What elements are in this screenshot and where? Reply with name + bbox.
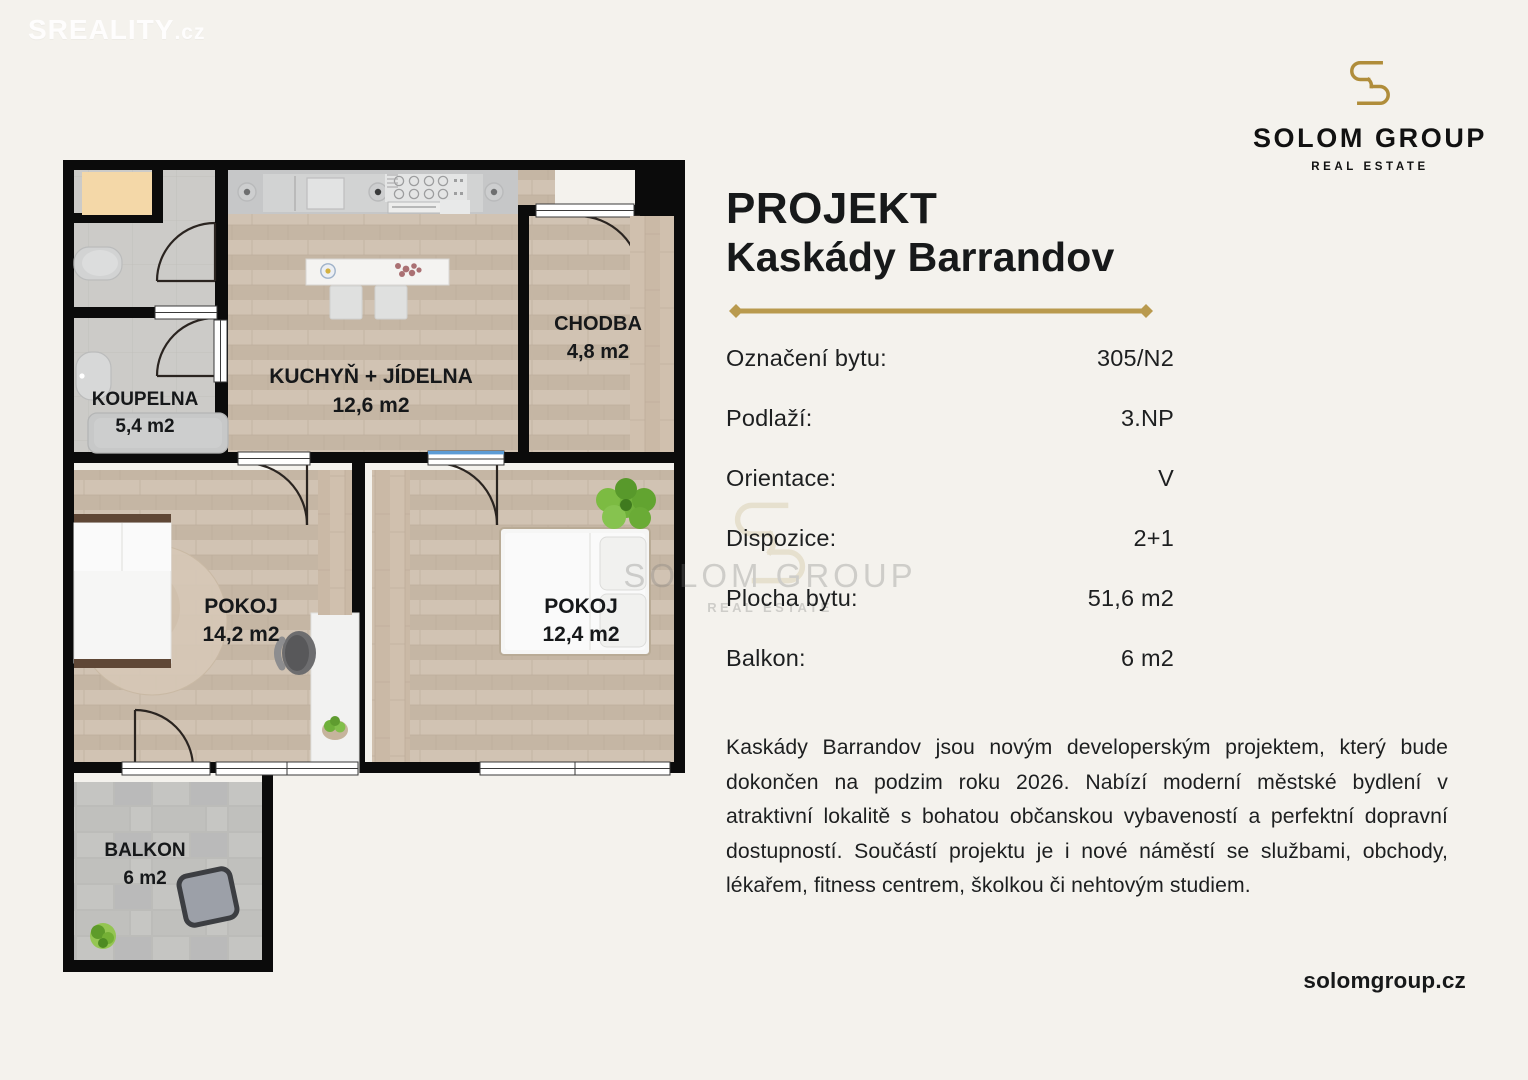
- floorplan-figure: KOUPELNA 5,4 m2 KUCHYŇ + JÍDELNA 12,6 m2…: [0, 0, 700, 1080]
- spec-label: Označení bytu:: [726, 345, 887, 372]
- spec-value: V: [1158, 465, 1174, 492]
- spec-value: 51,6 m2: [1088, 585, 1174, 612]
- page-title: PROJEKT: [726, 186, 1466, 232]
- spec-label: Balkon:: [726, 645, 806, 672]
- spec-table: Označení bytu: 305/N2 Podlaží: 3.NP Orie…: [726, 345, 1174, 705]
- balcony-plant: [90, 923, 116, 949]
- room-label-pokoj1: POKOJ: [204, 595, 278, 618]
- room-label-kuchyn: KUCHYŇ + JÍDELNA: [269, 364, 473, 388]
- spec-row: Plocha bytu: 51,6 m2: [726, 585, 1174, 645]
- room-label-koupelna: KOUPELNA: [92, 389, 199, 410]
- brand-subtitle: REAL ESTATE: [1240, 161, 1500, 173]
- brand-logo: SOLOM GROUP REAL ESTATE: [1240, 52, 1500, 173]
- spec-label: Dispozice:: [726, 525, 836, 552]
- spec-value: 305/N2: [1097, 345, 1174, 372]
- room-area-pokoj2: 12,4 m2: [542, 623, 619, 646]
- title-divider: [726, 303, 1156, 319]
- spec-value: 6 m2: [1121, 645, 1174, 672]
- room-area-chodba: 4,8 m2: [567, 341, 629, 363]
- spec-row: Podlaží: 3.NP: [726, 405, 1174, 465]
- floorplan-svg: KOUPELNA 5,4 m2 KUCHYŇ + JÍDELNA 12,6 m2…: [0, 0, 700, 1080]
- title-block: PROJEKT Kaskády Barrandov: [726, 186, 1466, 280]
- spec-label: Orientace:: [726, 465, 836, 492]
- balcony-chair: [177, 867, 238, 927]
- footer-website-url: solomgroup.cz: [1130, 968, 1466, 994]
- spec-label: Podlaží:: [726, 405, 813, 432]
- room-area-kuchyn: 12,6 m2: [332, 394, 409, 417]
- brand-name: SOLOM GROUP: [1240, 123, 1500, 154]
- sreality-watermark: SREALITY.cz: [28, 14, 205, 46]
- spec-value: 2+1: [1134, 525, 1174, 552]
- pokoj1-closet: [318, 470, 352, 615]
- room-label-chodba: CHODBA: [554, 313, 642, 335]
- room-label-balkon: BALKON: [104, 840, 185, 861]
- spec-row: Označení bytu: 305/N2: [726, 345, 1174, 405]
- spec-value: 3.NP: [1121, 405, 1174, 432]
- bed-double: [74, 514, 171, 668]
- wc-toilet: [74, 247, 122, 280]
- kitchen-counter: [228, 170, 518, 214]
- project-description: Kaskády Barrandov jsou novým developersk…: [726, 731, 1448, 904]
- spec-row: Orientace: V: [726, 465, 1174, 525]
- accent-block: [82, 172, 152, 215]
- sreality-watermark-name: SREALITY: [28, 14, 174, 45]
- room-area-koupelna: 5,4 m2: [115, 416, 174, 437]
- pokoj2-closet: [372, 470, 410, 762]
- sreality-watermark-tld: .cz: [174, 21, 205, 44]
- room-area-pokoj1: 14,2 m2: [202, 623, 279, 646]
- spec-label: Plocha bytu:: [726, 585, 858, 612]
- dining-table: [306, 259, 449, 285]
- project-name: Kaskády Barrandov: [726, 234, 1466, 281]
- spec-row: Balkon: 6 m2: [726, 645, 1174, 705]
- room-area-balkon: 6 m2: [123, 868, 166, 889]
- info-panel: SOLOM GROUP REAL ESTATE PROJEKT Kaskády …: [700, 0, 1528, 1080]
- spec-row: Dispozice: 2+1: [726, 525, 1174, 585]
- room-label-pokoj2: POKOJ: [544, 595, 618, 618]
- solom-monogram-icon: [1335, 52, 1405, 114]
